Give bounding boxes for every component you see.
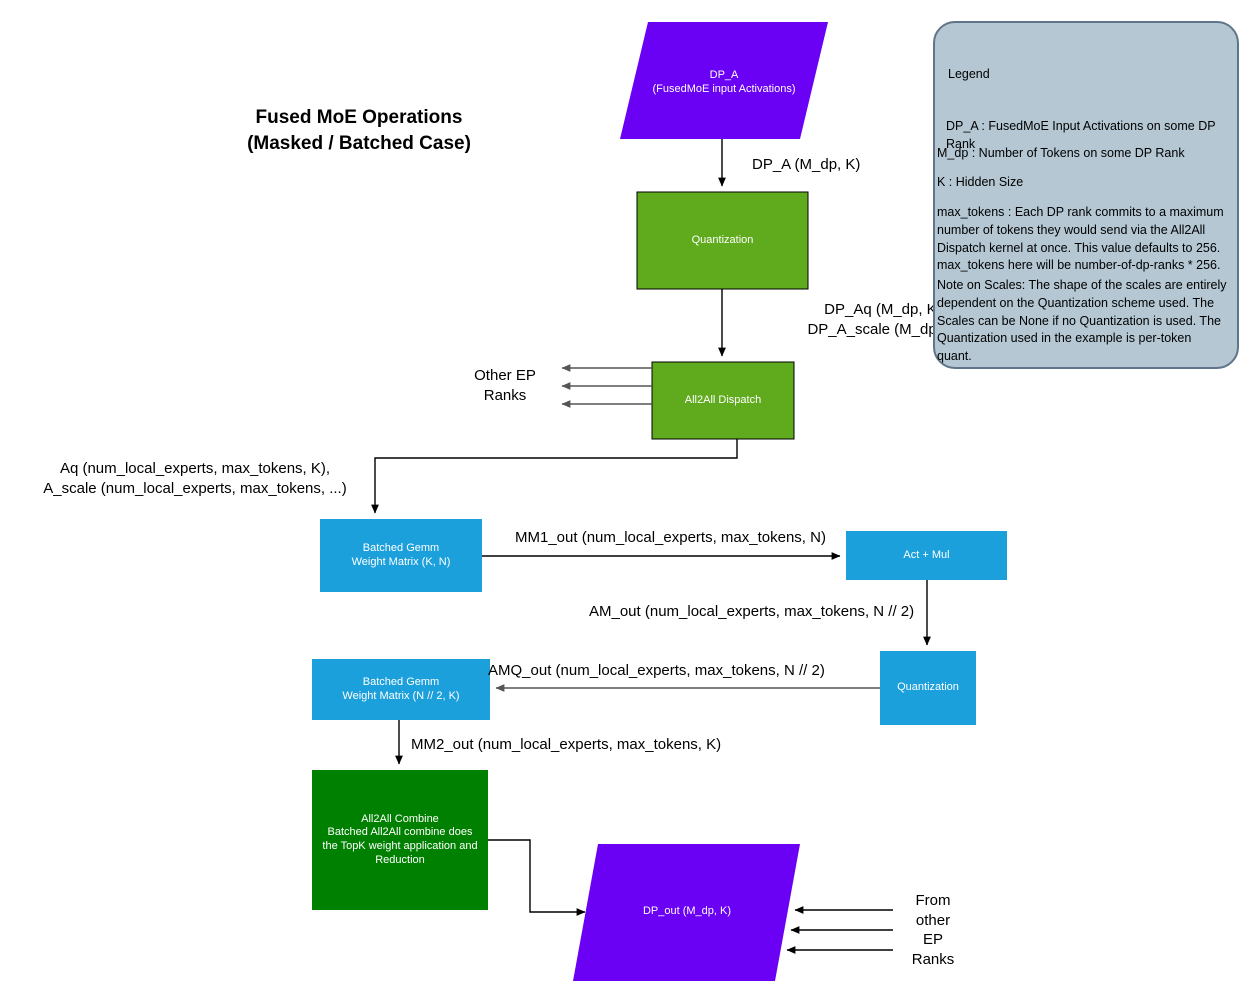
edge-label-mm2-out: MM2_out (num_local_experts, max_tokens, …	[411, 735, 761, 755]
legend-heading: Legend	[948, 67, 990, 81]
legend-entry-note-on-scales: Note on Scales: The shape of the scales …	[937, 277, 1229, 366]
edge-label-amq-out: AMQ_out (num_local_experts, max_tokens, …	[488, 661, 868, 681]
node-quantization-2-shape[interactable]	[880, 651, 976, 725]
legend-entry-m-dp: M_dp : Number of Tokens on some DP Rank	[937, 145, 1227, 163]
edge-label-am-out: AM_out (num_local_experts, max_tokens, N…	[589, 602, 939, 622]
edge-label-mm1-out: MM1_out (num_local_experts, max_tokens, …	[515, 528, 855, 548]
page-title: Fused MoE Operations (Masked / Batched C…	[224, 105, 494, 156]
node-dp-a-shape[interactable]	[620, 22, 828, 139]
edge-label-from-other-ep-ranks: From other EP Ranks	[898, 891, 968, 969]
edge-label-aq-a-scale: Aq (num_local_experts, max_tokens, K), A…	[30, 459, 360, 498]
legend-entry-max-tokens: max_tokens : Each DP rank commits to a m…	[937, 204, 1229, 275]
edge-combine-to-dp-out	[488, 840, 585, 912]
node-all2all-dispatch-shape[interactable]	[652, 362, 794, 439]
diagram-canvas: Fused MoE Operations (Masked / Batched C…	[0, 0, 1260, 1001]
node-dp-out-shape[interactable]	[573, 844, 800, 981]
edge-label-other-ep-ranks: Other EP Ranks	[455, 366, 555, 405]
node-batched-gemm-1-shape[interactable]	[320, 519, 482, 592]
legend-entry-k: K : Hidden Size	[937, 174, 1227, 192]
node-batched-gemm-2-shape[interactable]	[312, 659, 490, 720]
node-quantization-1-shape[interactable]	[637, 192, 808, 289]
node-act-mul-shape[interactable]	[846, 531, 1007, 580]
edge-dispatch-to-gemm1	[375, 439, 737, 513]
node-all2all-combine-shape[interactable]	[312, 770, 488, 910]
